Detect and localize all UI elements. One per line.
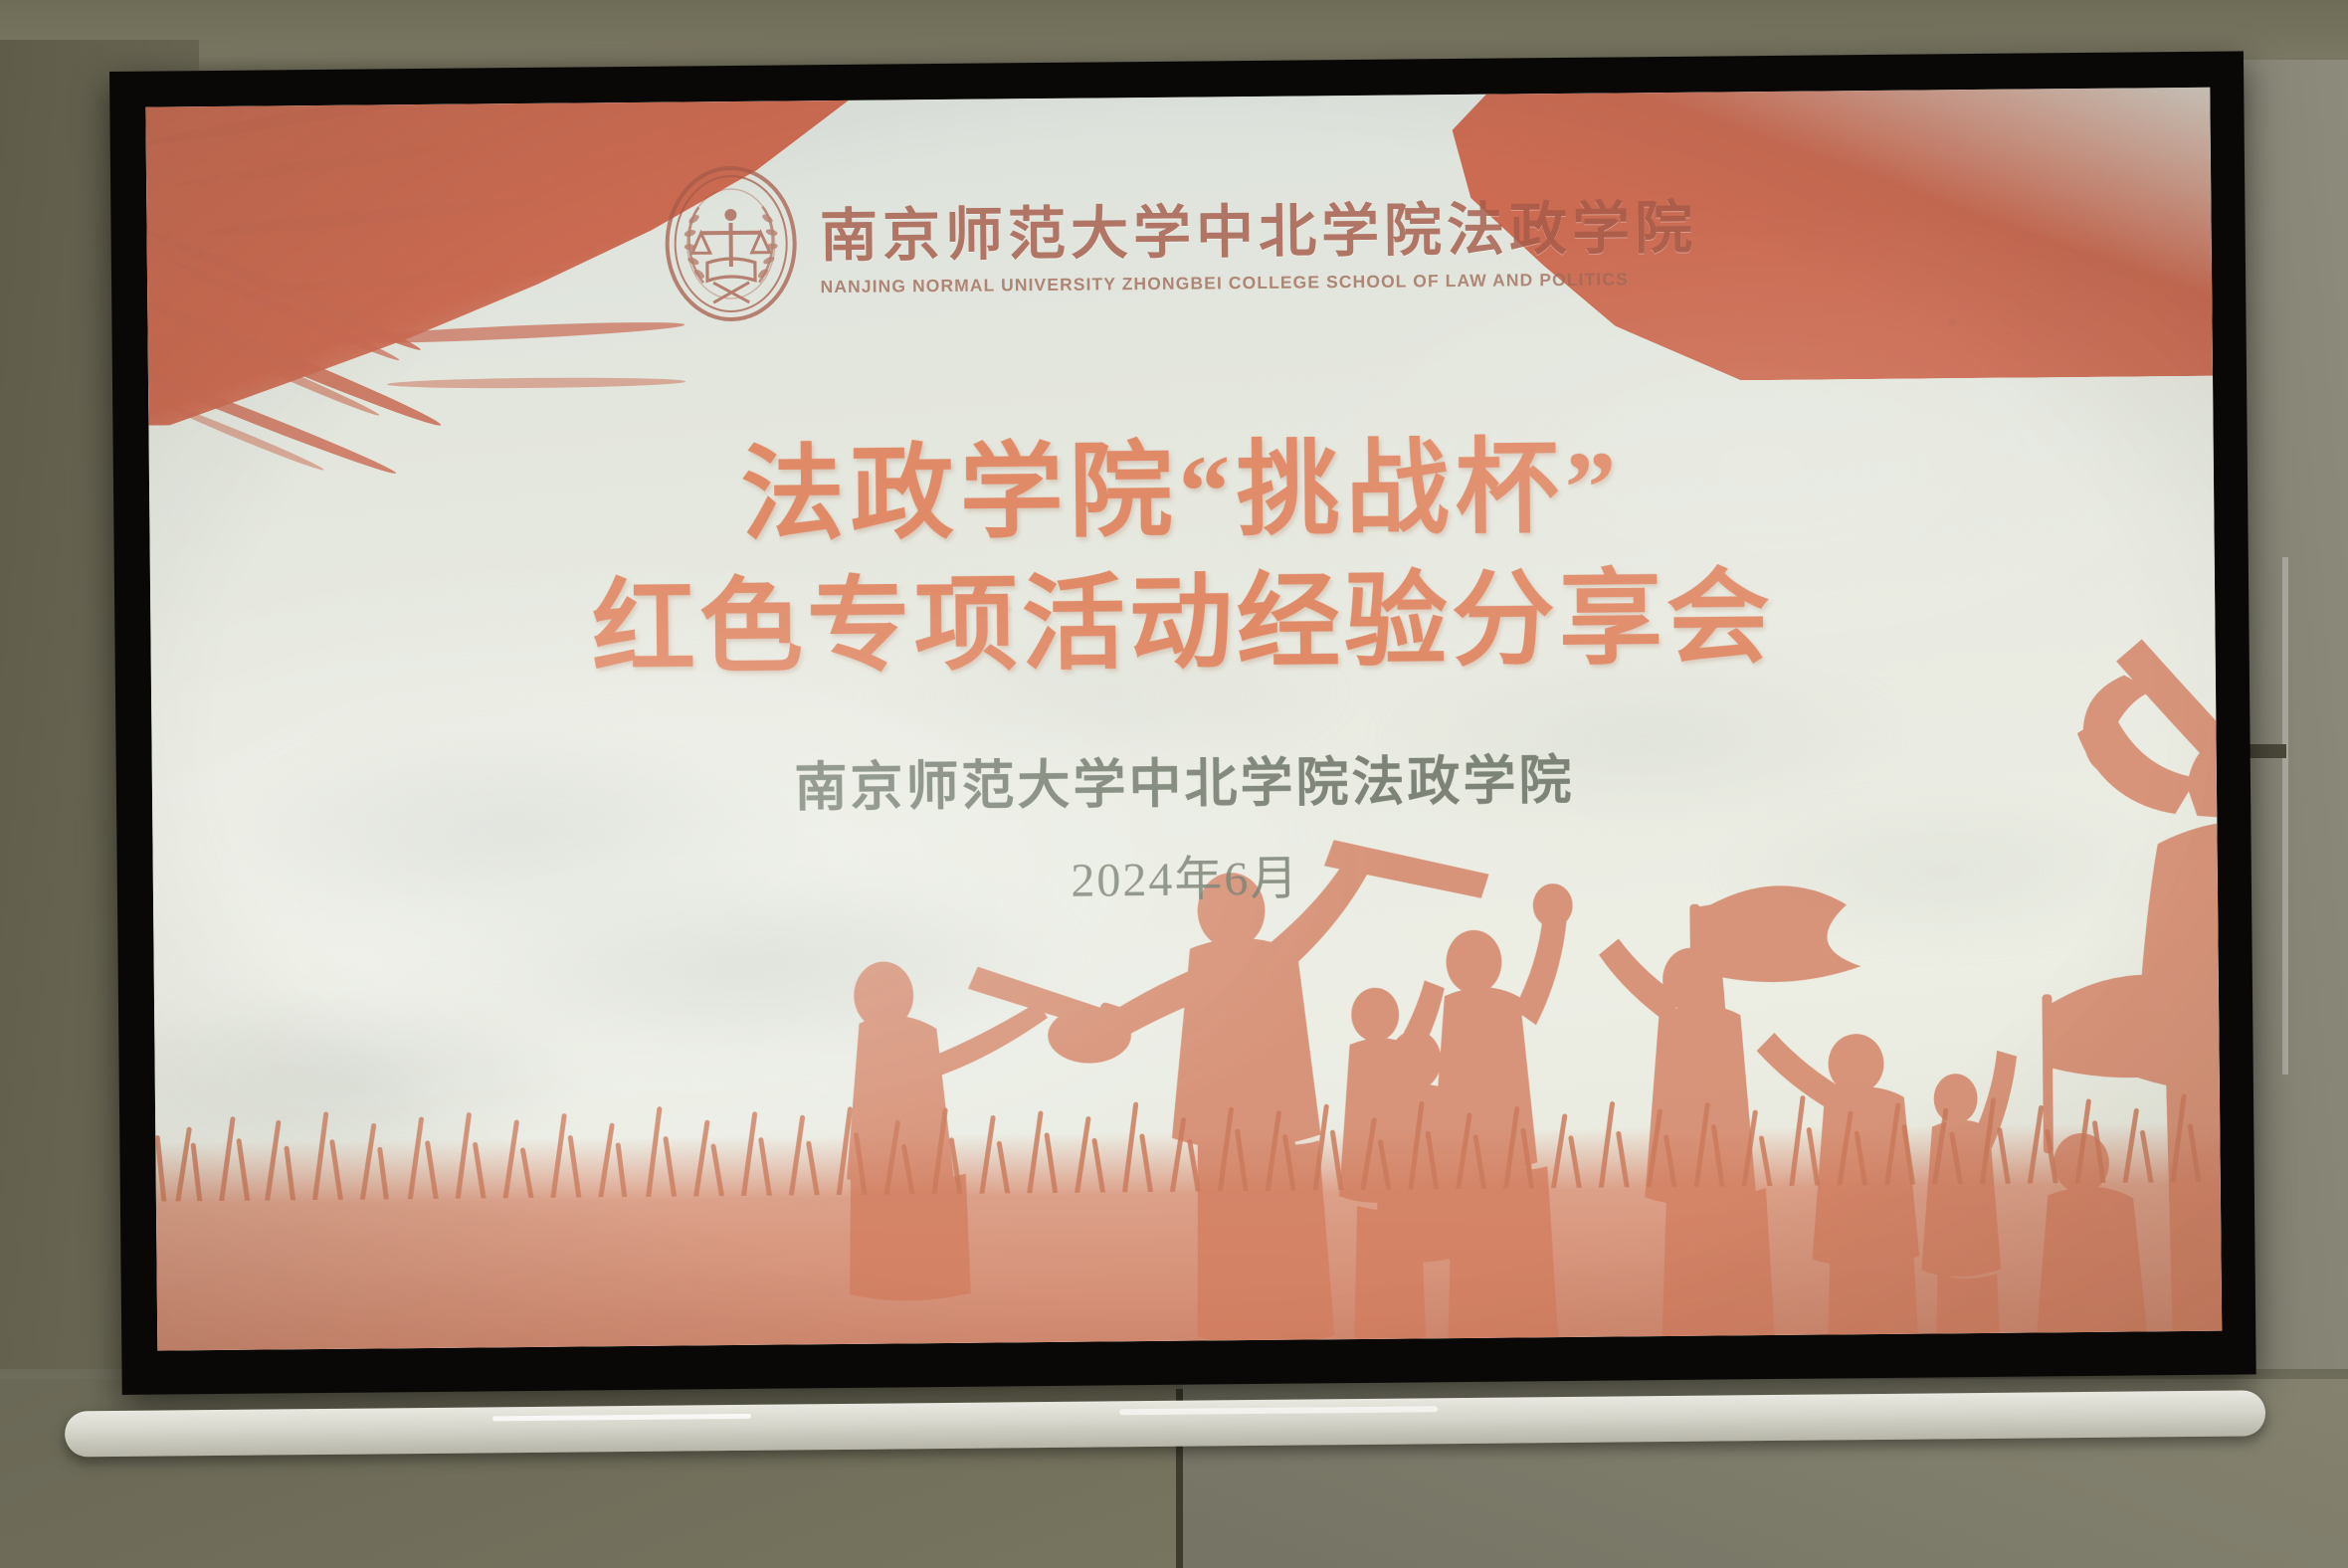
projection-screen-surface: 南京师范大学中北学院法政学院 NANJING NORMAL UNIVERSITY… [145, 88, 2222, 1351]
institution-name-en: NANJING NORMAL UNIVERSITY ZHONGBEI COLLE… [820, 268, 1697, 296]
slide-title-line-2: 红色专项活动经验分享会 [150, 548, 2216, 700]
projection-screen-assembly: 南京师范大学中北学院法政学院 NANJING NORMAL UNIVERSITY… [109, 51, 2256, 1395]
presentation-slide: 南京师范大学中北学院法政学院 NANJING NORMAL UNIVERSITY… [145, 88, 2222, 1351]
wall-right-trim [2282, 557, 2288, 1075]
slide-subtitle: 南京师范大学中北学院法政学院 [152, 732, 2218, 828]
projection-screen-frame: 南京师范大学中北学院法政学院 NANJING NORMAL UNIVERSITY… [109, 51, 2256, 1395]
institution-logo-text: 南京师范大学中北学院法政学院 NANJING NORMAL UNIVERSITY… [820, 180, 1698, 296]
institution-logo-block: 南京师范大学中北学院法政学院 NANJING NORMAL UNIVERSITY… [660, 154, 1698, 325]
university-emblem-icon [660, 162, 801, 324]
grass-silhouette [155, 1053, 2221, 1202]
dust-spot [1948, 318, 1956, 326]
slide-title-block: 法政学院“挑战杯” 红色专项活动经验分享会 南京师范大学中北学院法政学院 202… [149, 416, 2219, 919]
slide-title-line-1: 法政学院“挑战杯” [149, 416, 2215, 568]
institution-name-cn: 南京师范大学中北学院法政学院 [820, 180, 1698, 272]
